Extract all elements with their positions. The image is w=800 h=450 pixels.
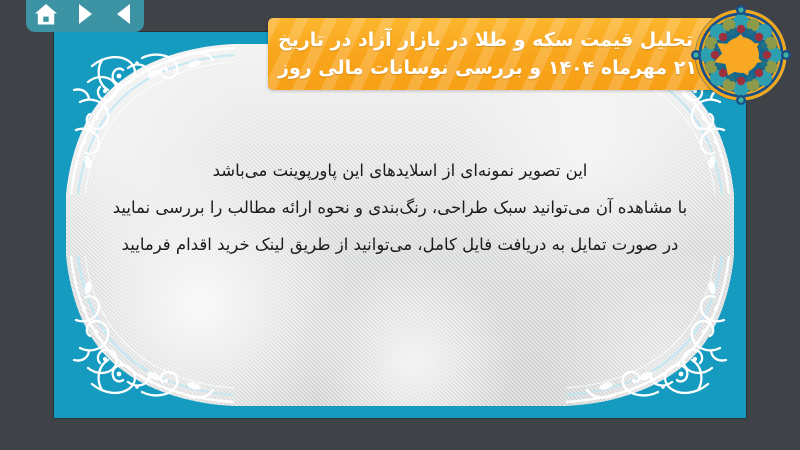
body-line-2: با مشاهده آن می‌توانید سبک طراحی، رنگ‌بن…: [100, 189, 700, 226]
triangle-left-icon: [114, 3, 134, 25]
home-icon: [34, 3, 58, 26]
title-line-2: ۲۱ مهرماه ۱۴۰۴ و بررسی نوسانات مالی روز: [278, 54, 697, 82]
slide-viewer: این تصویر نمونه‌ای از اسلایدهای این پاور…: [0, 0, 800, 450]
home-button[interactable]: [33, 1, 59, 27]
slide-body-text: این تصویر نمونه‌ای از اسلایدهای این پاور…: [66, 152, 734, 263]
slide-title-banner: تحلیل قیمت سکه و طلا در بازار آزاد در تا…: [268, 18, 724, 90]
slide-content-panel: این تصویر نمونه‌ای از اسلایدهای این پاور…: [66, 44, 734, 406]
arabesque-corner-ornament-bottom-left: [66, 256, 234, 406]
navigation-toolbar: [26, 0, 144, 32]
body-line-1: این تصویر نمونه‌ای از اسلایدهای این پاور…: [100, 152, 700, 189]
previous-slide-button[interactable]: [111, 1, 137, 27]
body-line-3: در صورت تمایل به دریافت فایل کامل، می‌تو…: [100, 226, 700, 263]
next-slide-button[interactable]: [72, 1, 98, 27]
persian-star-medallion: [690, 4, 792, 106]
triangle-right-icon: [75, 3, 95, 25]
title-line-1: تحلیل قیمت سکه و طلا در بازار آزاد در تا…: [278, 26, 693, 54]
arabesque-corner-ornament-bottom-right: [566, 256, 734, 406]
